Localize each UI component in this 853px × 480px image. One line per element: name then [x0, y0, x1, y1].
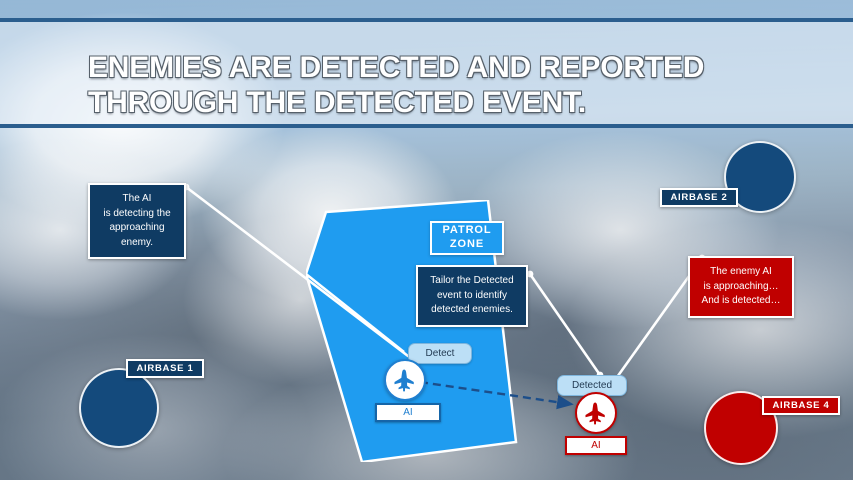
- callout-line-2: event to identify: [437, 289, 507, 304]
- patrol-zone-label[interactable]: PATROL ZONE: [430, 221, 504, 255]
- detect-event-chip[interactable]: Detect: [408, 343, 472, 364]
- enemy-ai-label[interactable]: AI: [565, 436, 627, 455]
- callout-enemy-ai[interactable]: The enemy AI is approaching… And is dete…: [688, 256, 794, 318]
- enemy-ai-label-text: AI: [591, 440, 600, 451]
- callout-ai-detecting[interactable]: The AI is detecting the approaching enem…: [88, 183, 186, 259]
- airbase-2-label[interactable]: AIRBASE 2: [660, 188, 738, 207]
- callout-line-1: Tailor the Detected: [430, 274, 513, 289]
- page-title: ENEMIES ARE DETECTED AND REPORTED THROUG…: [88, 50, 828, 121]
- friendly-ai-label-text: AI: [403, 407, 412, 418]
- callout-line-2: is detecting the: [103, 207, 170, 222]
- callout-line-3: And is detected…: [702, 294, 781, 309]
- callout-line-1: The AI: [123, 192, 152, 207]
- airbase-4-label[interactable]: AIRBASE 4: [762, 396, 840, 415]
- callout-tailor-event[interactable]: Tailor the Detected event to identify de…: [416, 265, 528, 327]
- patrol-zone-label-line-1: PATROL: [443, 224, 492, 238]
- friendly-jet-medallion[interactable]: [384, 359, 426, 401]
- callout-line-3: detected enemies.: [431, 303, 513, 318]
- fighter-jet-icon: [391, 366, 419, 394]
- patrol-zone-label-line-2: ZONE: [450, 238, 484, 252]
- callout-line-3: approaching enemy.: [99, 221, 175, 250]
- airbase-label-text: AIRBASE 4: [773, 400, 830, 411]
- enemy-jet-medallion[interactable]: [575, 392, 617, 434]
- callout-line-1: The enemy AI: [710, 265, 772, 280]
- friendly-ai-label[interactable]: AI: [375, 403, 441, 422]
- fighter-jet-icon: [582, 399, 610, 427]
- detect-event-label: Detect: [426, 348, 455, 359]
- title-band: ENEMIES ARE DETECTED AND REPORTED THROUG…: [0, 18, 853, 128]
- callout-line-2: is approaching…: [703, 280, 778, 295]
- airbase-1-label[interactable]: AIRBASE 1: [126, 359, 204, 378]
- airbase-label-text: AIRBASE 2: [671, 192, 728, 203]
- airbase-1-marker[interactable]: [79, 368, 159, 448]
- slide-canvas: ENEMIES ARE DETECTED AND REPORTED THROUG…: [0, 0, 853, 480]
- airbase-label-text: AIRBASE 1: [137, 363, 194, 374]
- detected-event-label: Detected: [572, 380, 612, 391]
